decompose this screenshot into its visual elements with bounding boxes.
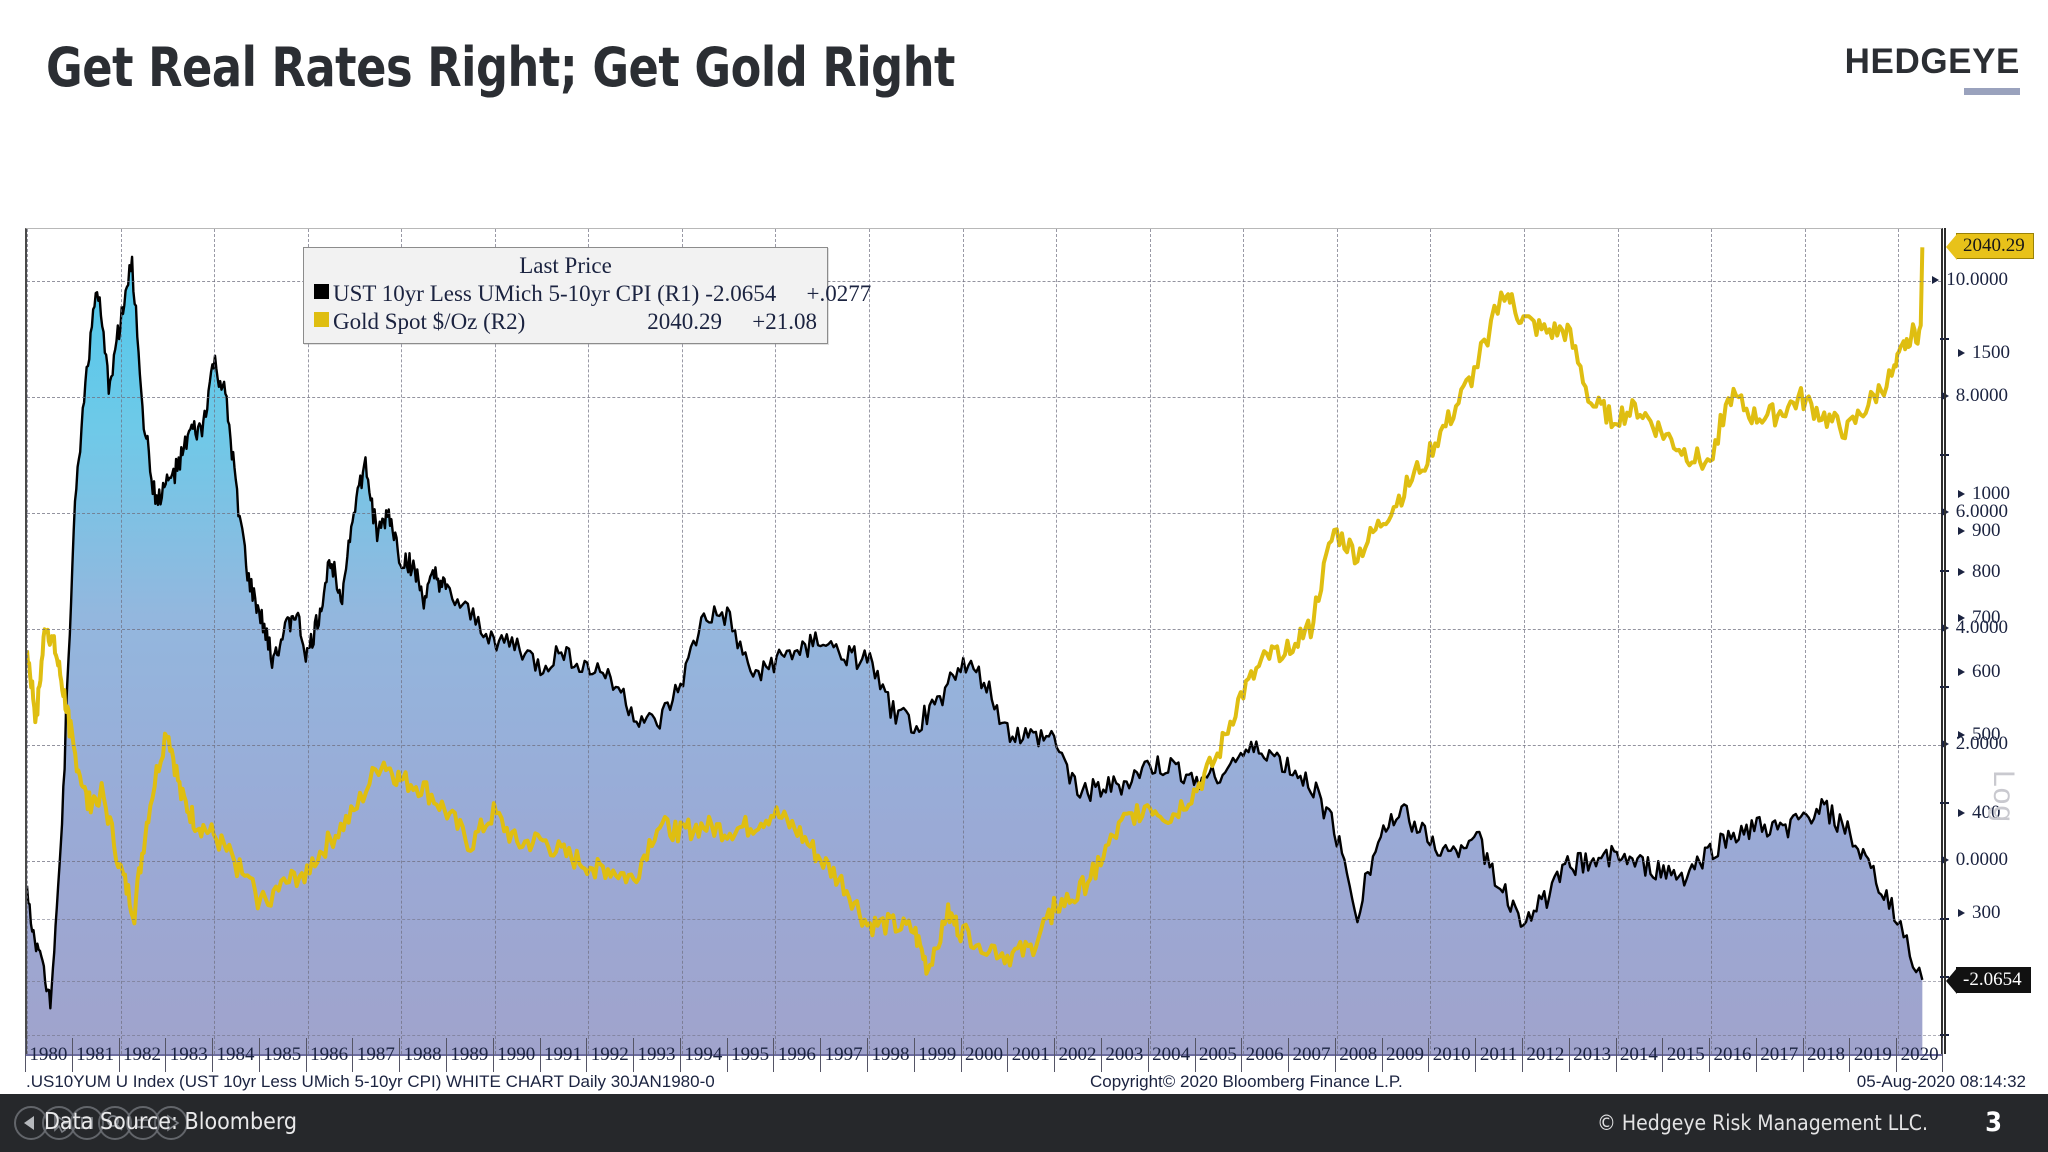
vertical-gridline xyxy=(1337,229,1338,1054)
vertical-gridline xyxy=(27,229,28,1054)
x-axis-year-label: 2001 xyxy=(1012,1044,1050,1066)
x-axis-year-label: 2012 xyxy=(1526,1044,1564,1066)
x-axis-labels: 1980198119821983198419851986198719881989… xyxy=(25,1044,1943,1070)
x-axis-year-label: 1985 xyxy=(263,1044,301,1066)
horizontal-gridline xyxy=(27,861,1941,862)
x-axis-year-label: 1991 xyxy=(544,1044,582,1066)
horizontal-gridline xyxy=(27,397,1941,398)
axis-r2-tick-label: 1000 xyxy=(1972,483,2010,505)
vertical-gridline xyxy=(401,229,402,1054)
vertical-gridline xyxy=(775,229,776,1054)
x-axis-year-label: 2014 xyxy=(1620,1044,1658,1066)
x-axis-year-label: 1995 xyxy=(731,1044,769,1066)
series-canvas xyxy=(27,229,1941,1054)
plot-area[interactable] xyxy=(25,228,1943,1054)
x-axis-year-label: 1992 xyxy=(591,1044,629,1066)
gold-square-swatch xyxy=(314,312,329,327)
x-axis-year-label: 1998 xyxy=(871,1044,909,1066)
x-axis-year-label: 2010 xyxy=(1433,1044,1471,1066)
vertical-gridline xyxy=(1618,229,1619,1054)
axis-r2-tick-label: 900 xyxy=(1972,520,2001,542)
real-rates-area-fill xyxy=(27,257,1922,1054)
x-axis-year-label: 2011 xyxy=(1480,1044,1517,1066)
security-description: .US10YUM U Index (UST 10yr Less UMich 5-… xyxy=(26,1072,715,1092)
plot-frame xyxy=(25,228,1943,1054)
x-axis-year-label: 2015 xyxy=(1667,1044,1705,1066)
x-axis-year-label: 1989 xyxy=(450,1044,488,1066)
page-number: 3 xyxy=(1985,1107,2002,1138)
x-axis-year-label: 1980 xyxy=(29,1044,67,1066)
real-rate-flag: -2.0654 xyxy=(1956,967,2031,993)
vertical-gridline xyxy=(588,229,589,1054)
x-axis-year-label: 2008 xyxy=(1339,1044,1377,1066)
x-axis-year-label: 2006 xyxy=(1246,1044,1284,1066)
x-axis-year-label: 1988 xyxy=(404,1044,442,1066)
axis-r2-tick-label: 600 xyxy=(1972,661,2001,683)
x-axis-year-label: 2017 xyxy=(1760,1044,1798,1066)
axis-r2[interactable]: 200015001000900800700600500400300 xyxy=(1958,228,2046,1068)
x-axis-year-label: 2016 xyxy=(1713,1044,1751,1066)
logo-underline-rule xyxy=(1964,88,2020,95)
axis-r2-line xyxy=(1944,228,1946,1054)
gold-price-flag-value: 2040.29 xyxy=(1963,235,2025,257)
vertical-gridline xyxy=(495,229,496,1054)
legend-series-change: +.0277 xyxy=(776,280,871,308)
axis-r2-tick-label: 1500 xyxy=(1972,342,2010,364)
vertical-gridline xyxy=(308,229,309,1054)
real-rate-flag-value: -2.0654 xyxy=(1963,969,2022,991)
vertical-gridline xyxy=(682,229,683,1054)
x-axis-year-label: 2018 xyxy=(1807,1044,1845,1066)
vertical-gridline xyxy=(1430,229,1431,1054)
horizontal-gridline xyxy=(27,629,1941,630)
hedgeye-copyright: © Hedgeye Risk Management LLC. xyxy=(1597,1111,1928,1135)
x-axis-year-label: 1999 xyxy=(918,1044,956,1066)
x-axis-year-label: 2002 xyxy=(1059,1044,1097,1066)
vertical-gridline xyxy=(963,229,964,1054)
x-axis-year-label: 2007 xyxy=(1292,1044,1330,1066)
vertical-gridline xyxy=(869,229,870,1054)
legend-header: Last Price xyxy=(314,253,817,279)
x-axis-year-label: 2000 xyxy=(965,1044,1003,1066)
x-axis-year-label: 2013 xyxy=(1573,1044,1611,1066)
vertical-gridline xyxy=(214,229,215,1054)
horizontal-gridline xyxy=(27,1035,1941,1036)
vertical-gridline xyxy=(1524,229,1525,1054)
bloomberg-copyright: Copyright© 2020 Bloomberg Finance L.P. xyxy=(1090,1072,1403,1092)
axis-r2-tick-label: 300 xyxy=(1972,902,2001,924)
x-axis-year-label: 1981 xyxy=(76,1044,114,1066)
legend-series-last: 2040.29 xyxy=(647,308,722,336)
axis-r2-tick-label: 800 xyxy=(1972,561,2001,583)
x-axis-year-label: 1984 xyxy=(217,1044,255,1066)
x-axis-year-label: 2019 xyxy=(1854,1044,1892,1066)
x-axis-year-label: 2005 xyxy=(1199,1044,1237,1066)
horizontal-gridline xyxy=(27,745,1941,746)
gold-price-flag: 2040.29 xyxy=(1956,233,2034,259)
vertical-gridline xyxy=(1150,229,1151,1054)
log-scale-watermark: Log xyxy=(1986,770,2020,823)
black-square-swatch xyxy=(314,284,329,299)
legend-series-change: +21.08 xyxy=(722,308,817,336)
brand-logo-wrap: HEDGEYE xyxy=(1845,42,2020,95)
legend-series-name: Gold Spot $/Oz (R2) xyxy=(333,308,641,336)
horizontal-gridline xyxy=(27,513,1941,514)
x-axis-year-label: 1997 xyxy=(825,1044,863,1066)
chart-legend[interactable]: Last Price UST 10yr Less UMich 5-10yr CP… xyxy=(303,247,828,344)
x-axis-year-label: 1986 xyxy=(310,1044,348,1066)
horizontal-gridline xyxy=(27,981,1941,982)
vertical-gridline xyxy=(1711,229,1712,1054)
x-axis-year-label: 2020 xyxy=(1901,1044,1939,1066)
legend-series-last: -2.0654 xyxy=(705,280,776,308)
x-axis-year-label: 1994 xyxy=(684,1044,722,1066)
x-axis-year-label: 2009 xyxy=(1386,1044,1424,1066)
x-axis-year-label: 1996 xyxy=(778,1044,816,1066)
x-axis-year-label: 1983 xyxy=(170,1044,208,1066)
hedgeye-logo: HEDGEYE xyxy=(1845,42,2020,82)
x-axis-year-label: 2004 xyxy=(1152,1044,1190,1066)
axis-r2-tick-label: 700 xyxy=(1972,607,2001,629)
chart-timestamp: 05-Aug-2020 08:14:32 xyxy=(1857,1072,2026,1092)
vertical-gridline xyxy=(1243,229,1244,1054)
legend-series-name: UST 10yr Less UMich 5-10yr CPI (R1) xyxy=(333,280,699,308)
x-axis-year-label: 1987 xyxy=(357,1044,395,1066)
vertical-gridline xyxy=(1898,229,1899,1054)
vertical-gridline xyxy=(1805,229,1806,1054)
vertical-gridline xyxy=(121,229,122,1054)
x-axis-year-label: 1990 xyxy=(497,1044,535,1066)
legend-row: UST 10yr Less UMich 5-10yr CPI (R1) -2.0… xyxy=(314,280,817,308)
x-axis-year-label: 1982 xyxy=(123,1044,161,1066)
page-title: Get Real Rates Right; Get Gold Right xyxy=(46,36,955,99)
data-source-label: Data Source: Bloomberg xyxy=(44,1109,297,1135)
horizontal-gridline xyxy=(27,919,1941,920)
x-axis-year-label: 1993 xyxy=(638,1044,676,1066)
slide-footer-bar: Data Source: Bloomberg © Hedgeye Risk Ma… xyxy=(0,1094,2048,1152)
legend-row: Gold Spot $/Oz (R2) 2040.29 +21.08 xyxy=(314,308,817,336)
axis-r2-tick-label: 500 xyxy=(1972,724,2001,746)
x-axis-year-label: 2003 xyxy=(1105,1044,1143,1066)
vertical-gridline xyxy=(1056,229,1057,1054)
